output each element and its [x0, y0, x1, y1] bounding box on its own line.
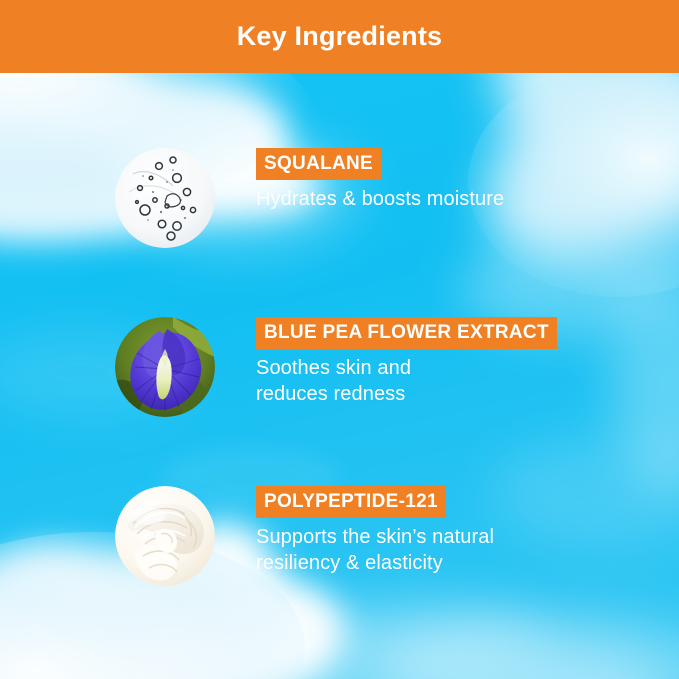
description-line: Soothes skin and — [256, 355, 656, 381]
page-title: Key Ingredients — [0, 0, 679, 73]
cream-swirl-swatch-icon — [115, 486, 215, 586]
ingredient-list: SQUALANE Hydrates & boosts moisture — [0, 72, 679, 679]
description-line: reduces redness — [256, 381, 656, 407]
description-line: Hydrates & boosts moisture — [256, 186, 656, 212]
ingredient-name-badge: POLYPEPTIDE-121 — [256, 486, 446, 518]
squalane-gel-swatch-icon — [115, 148, 215, 248]
ingredient-text-block: BLUE PEA FLOWER EXTRACT Soothes skin and… — [256, 317, 656, 407]
ingredient-text-block: SQUALANE Hydrates & boosts moisture — [256, 148, 656, 212]
ingredient-name-badge: BLUE PEA FLOWER EXTRACT — [256, 317, 557, 349]
description-line: resiliency & elasticity — [256, 550, 656, 576]
ingredients-infographic: Key Ingredients — [0, 0, 679, 679]
description-line: Supports the skin’s natural — [256, 524, 656, 550]
ingredient-description: Soothes skin and reduces redness — [256, 355, 656, 407]
ingredient-description: Supports the skin’s natural resiliency &… — [256, 524, 656, 576]
ingredient-description: Hydrates & boosts moisture — [256, 186, 656, 212]
blue-pea-flower-swatch-icon — [115, 317, 215, 417]
ingredient-text-block: POLYPEPTIDE-121 Supports the skin’s natu… — [256, 486, 656, 576]
ingredient-name-badge: SQUALANE — [256, 148, 381, 180]
